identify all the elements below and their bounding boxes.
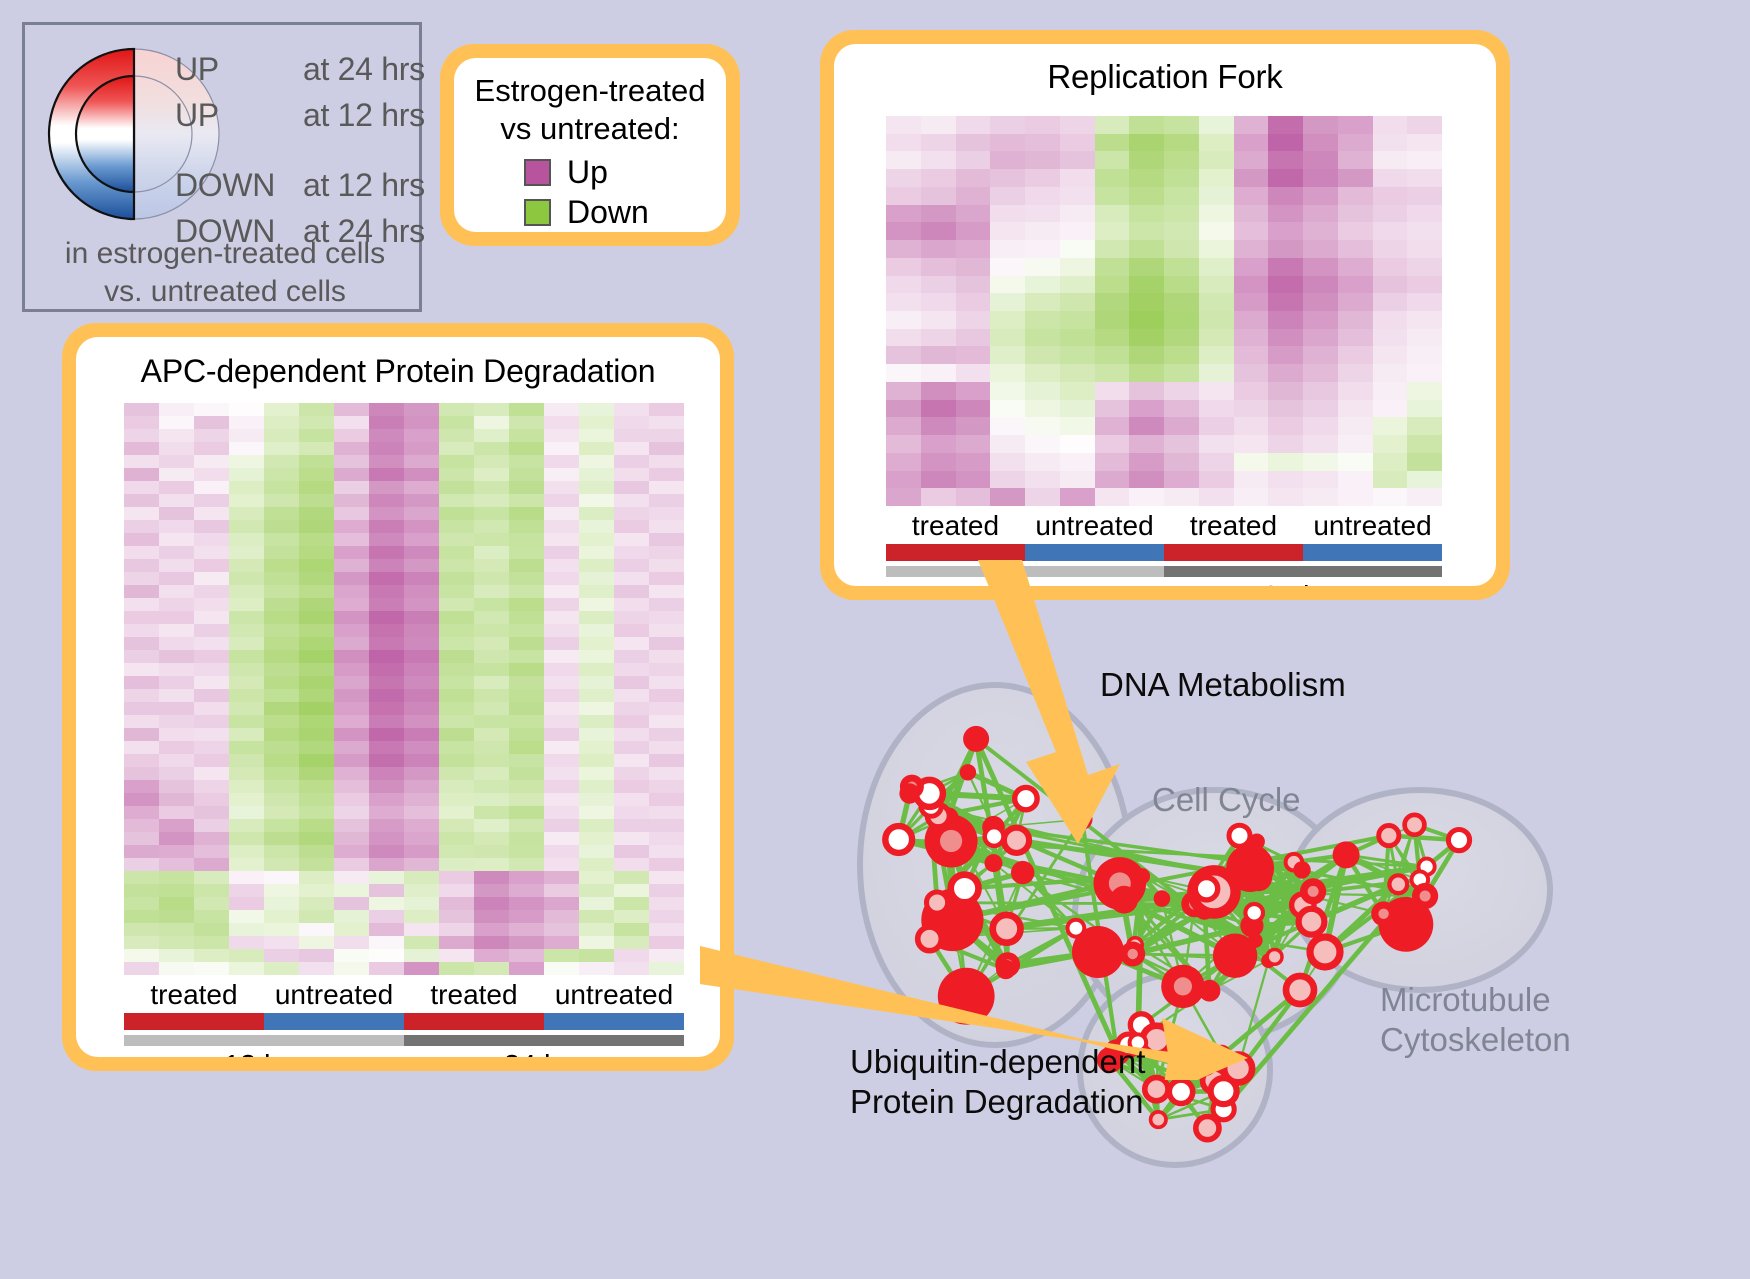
treatment-color-bar [124,1013,684,1030]
timepoint-labels: 12 hrs 24 hrs [124,1046,684,1057]
treatment-label: untreated [1025,510,1164,542]
down-label: Down [567,194,649,231]
treatment-color-bar [886,544,1442,561]
direction-label: DOWN [175,167,303,204]
key-title-line-1: Estrogen-treated [472,72,708,110]
panel-title: Replication Fork [834,44,1496,96]
direction-label: UP [175,97,303,134]
apc-heatmap [124,403,684,975]
timepoint-label: 24 hrs [404,1050,684,1057]
timepoint-label: 12 hrs [124,1050,404,1057]
time-label: at 12 hrs [303,97,425,134]
cluster-label-line-2: Cytoskeleton [1380,1020,1571,1060]
treatment-labels: treated untreated treated untreated [124,979,684,1011]
key-row-down: Down [524,192,708,232]
treatment-label: untreated [544,979,684,1011]
cluster-label-cell-cycle: Cell Cycle [1152,780,1301,820]
direction-label: UP [175,51,303,88]
key-row-up: Up [524,152,708,192]
colorwheel-row: DOWN at 12 hrs [175,167,425,213]
cluster-label-microtubule: Microtubule Cytoskeleton [1380,980,1571,1060]
apc-degradation-panel: APC-dependent Protein Degradation treate… [62,323,734,1071]
treatment-labels: treated untreated treated untreated [886,510,1442,542]
cluster-label-ubiquitin: Ubiquitin-dependent Protein Degradation [850,1042,1145,1122]
caption-line-2: vs. untreated cells [25,273,425,311]
treatment-label: treated [1164,510,1303,542]
cluster-label-dna-metabolism: DNA Metabolism [1100,665,1346,705]
treatment-label: untreated [1303,510,1442,542]
cluster-label-line-1: Microtubule [1380,980,1571,1020]
colorwheel-caption: in estrogen-treated cells vs. untreated … [25,235,425,311]
down-swatch-icon [524,199,551,226]
key-rows: Up Down [472,152,708,232]
treatment-label: treated [886,510,1025,542]
timepoint-color-bar [124,1035,684,1046]
replication-fork-heatmap [886,116,1442,506]
colorwheel-row: UP at 24 hrs [175,51,425,97]
timepoint-label: 24 hrs [1164,581,1442,586]
replication-fork-panel: Replication Fork treated untreated treat… [820,30,1510,600]
key-title-line-2: vs untreated: [472,110,708,148]
updown-key-panel: Estrogen-treated vs untreated: Up Down [440,44,740,246]
treatment-label: treated [404,979,544,1011]
treatment-label: untreated [264,979,404,1011]
time-label: at 24 hrs [303,51,425,88]
colorwheel-row: UP at 12 hrs [175,97,425,143]
treatment-label: treated [124,979,264,1011]
caption-line-1: in estrogen-treated cells [25,235,425,273]
cluster-label-line-1: Ubiquitin-dependent [850,1042,1145,1082]
colorwheel-legend-box: UP at 24 hrs UP at 12 hrs DOWN at 12 hrs… [22,22,422,312]
panel-title: APC-dependent Protein Degradation [76,337,720,390]
time-label: at 12 hrs [303,167,425,204]
colorwheel-rows: UP at 24 hrs UP at 12 hrs DOWN at 12 hrs… [175,51,425,259]
figure-canvas: UP at 24 hrs UP at 12 hrs DOWN at 12 hrs… [0,0,1750,1279]
replication-fork-connector-arrow [960,560,1180,860]
apc-axis: treated untreated treated untreated 12 h… [124,979,684,1057]
up-label: Up [567,154,608,191]
cluster-label-line-2: Protein Degradation [850,1082,1145,1122]
up-swatch-icon [524,159,551,186]
